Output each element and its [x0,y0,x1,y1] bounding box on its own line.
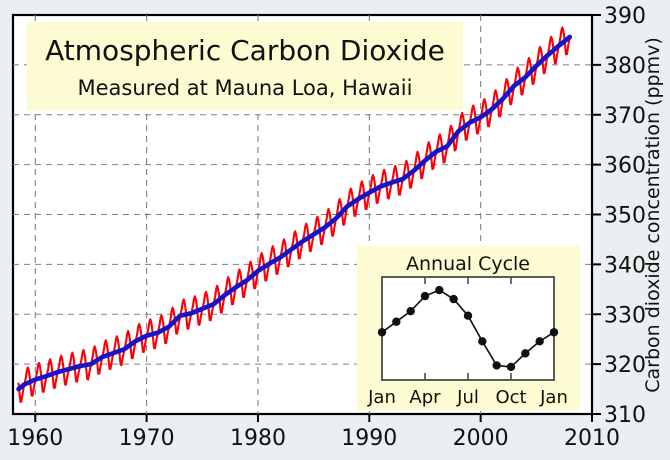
annual-cycle-inset: Annual Cycle JanAprJulOctJan [357,246,580,410]
chart-page: 196019701980199020002010 310320330340350… [0,0,670,460]
y-tick-label: 320 [604,353,646,378]
y-tick-label: 340 [604,253,646,278]
title-callout: Atmospheric Carbon Dioxide Measured at M… [27,22,463,110]
x-tick-label: 1970 [119,426,175,451]
x-tick-label: 1980 [230,426,286,451]
inset-data-point [507,363,515,371]
inset-data-point [492,361,500,369]
y-tick-label: 350 [604,204,646,229]
y-axis-title: Carbon dioxide concentration (ppmv) [642,37,664,393]
inset-x-label: Jul [456,387,479,408]
inset-data-point [449,295,457,303]
inset-data-point [521,349,529,357]
inset-data-point [550,328,558,336]
y-tick-label: 370 [604,104,646,129]
inset-data-point [378,328,386,336]
inset-data-point [435,286,443,294]
inset-data-point [464,311,472,319]
page-subtitle: Measured at Mauna Loa, Hawaii [78,76,413,100]
y-tick-label: 390 [604,4,646,29]
inset-x-label: Jan [367,387,396,408]
inset-x-label: Jan [539,387,568,408]
inset-frame [382,277,554,380]
inset-data-point [421,292,429,300]
inset-data-point [406,307,414,315]
inset-title: Annual Cycle [406,253,530,275]
inset-x-label: Oct [495,387,526,408]
y-tick-label: 330 [604,303,646,328]
y-tick-label: 380 [604,54,646,79]
x-tick-label: 2000 [453,426,509,451]
y-tick-label: 310 [604,403,646,428]
inset-x-label: Apr [409,387,441,408]
page-title: Atmospheric Carbon Dioxide [45,34,445,67]
inset-data-point [535,337,543,345]
x-tick-label: 1960 [7,426,63,451]
inset-data-point [478,337,486,345]
x-tick-label: 1990 [341,426,397,451]
x-tick-label: 2010 [564,426,620,451]
co2-chart: 196019701980199020002010 310320330340350… [0,0,670,460]
y-tick-label: 360 [604,154,646,179]
inset-data-point [392,318,400,326]
